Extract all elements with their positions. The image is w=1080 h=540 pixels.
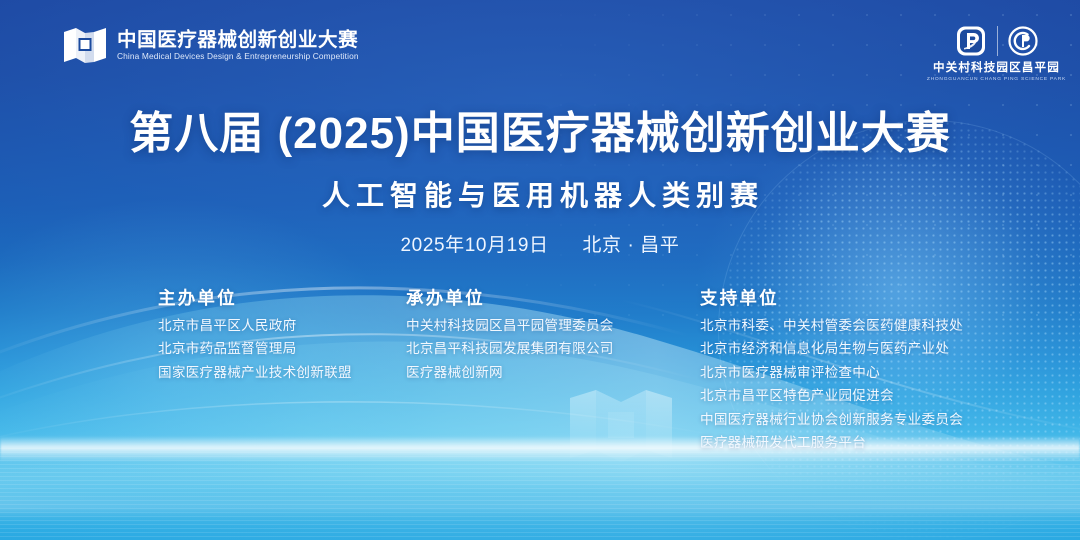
org-item: 北京市科委、中关村管委会医药健康科技处 [700, 319, 963, 333]
competition-logo-text: 中国医疗器械创新创业大赛 China Medical Devices Desig… [117, 31, 358, 61]
science-park-marks [954, 24, 1039, 58]
org-heading: 主办单位 [158, 290, 352, 308]
organization-columns: 主办单位 北京市昌平区人民政府 北京市药品监督管理局 国家医疗器械产业技术创新联… [0, 290, 1080, 460]
science-park-name-en: ZHONGGUANCUN CHANG PING SCIENCE PARK [927, 78, 1066, 83]
competition-name-en: China Medical Devices Design & Entrepren… [117, 53, 363, 61]
org-item: 北京昌平科技园发展集团有限公司 [406, 342, 614, 356]
org-item: 中关村科技园区昌平园管理委员会 [406, 319, 614, 333]
zhongguancun-emblem-icon [954, 24, 988, 58]
org-item: 北京市经济和信息化局生物与医药产业处 [700, 342, 963, 356]
event-location: 北京 · 昌平 [582, 235, 679, 256]
org-column-host: 主办单位 北京市昌平区人民政府 北京市药品监督管理局 国家医疗器械产业技术创新联… [158, 290, 352, 389]
changping-emblem-icon [1007, 25, 1039, 57]
open-book-window-logo-icon [62, 26, 108, 66]
org-item: 医疗器械创新网 [406, 366, 614, 380]
org-item: 北京市昌平区人民政府 [158, 319, 352, 333]
org-item: 国家医疗器械产业技术创新联盟 [158, 366, 352, 380]
poster-canvas: 中国医疗器械创新创业大赛 China Medical Devices Desig… [0, 0, 1080, 540]
event-date: 2025年10月19日 [400, 235, 548, 256]
science-park-logo: 中关村科技园区昌平园 ZHONGGUANCUN CHANG PING SCIEN… [927, 24, 1066, 83]
science-park-name-cn: 中关村科技园区昌平园 [933, 62, 1060, 74]
competition-logo: 中国医疗器械创新创业大赛 China Medical Devices Desig… [62, 26, 358, 66]
org-item: 北京市药品监督管理局 [158, 342, 352, 356]
competition-name-cn: 中国医疗器械创新创业大赛 [117, 31, 358, 51]
page-subtitle: 人工智能与医用机器人类别赛 [0, 182, 1080, 210]
org-item: 医疗器械研发代工服务平台 [700, 436, 963, 450]
org-item: 北京市昌平区特色产业园促进会 [700, 389, 963, 403]
page-title: 第八届 (2025)中国医疗器械创新创业大赛 [0, 112, 1080, 156]
org-column-organizer: 承办单位 中关村科技园区昌平园管理委员会 北京昌平科技园发展集团有限公司 医疗器… [406, 290, 614, 389]
org-column-supporter: 支持单位 北京市科委、中关村管委会医药健康科技处 北京市经济和信息化局生物与医药… [700, 290, 963, 460]
org-item: 中国医疗器械行业协会创新服务专业委员会 [700, 413, 963, 427]
event-datetime-location: 2025年10月19日 北京 · 昌平 [0, 236, 1080, 255]
org-heading: 承办单位 [406, 290, 614, 308]
logo-divider [997, 26, 998, 56]
bottom-scanlines [0, 448, 1080, 540]
org-heading: 支持单位 [700, 290, 963, 308]
org-item: 北京市医疗器械审评检查中心 [700, 366, 963, 380]
